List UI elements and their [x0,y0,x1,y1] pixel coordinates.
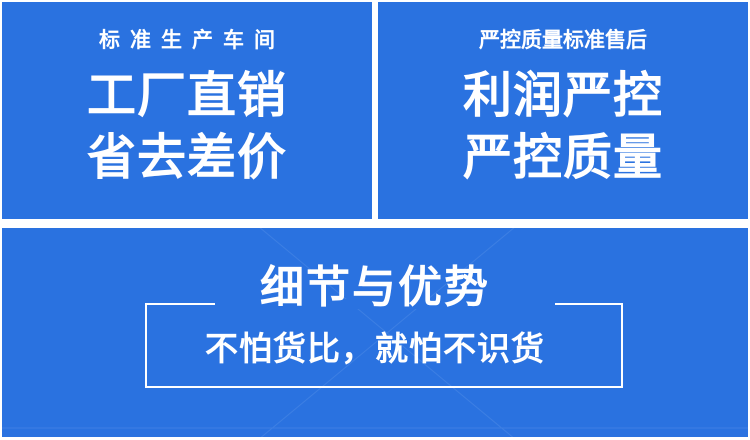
panel-factory-direct-headline-line1: 工厂直销 [87,67,287,127]
panel-factory-direct-headline-line2: 省去差价 [87,129,287,189]
panel-quality-control: 严控质量标准售后 利润严控 严控质量 [378,2,748,219]
panel-factory-direct-eyebrow: 标准生产车间 [89,30,285,51]
panel-quality-control-eyebrow: 严控质量标准售后 [479,30,647,51]
panel-details-advantages: 细节与优势 不怕货比，就怕不识货 [2,228,748,437]
panel-quality-control-headline-line1: 利润严控 [463,67,663,127]
panel-quality-control-headline-line2: 严控质量 [463,129,663,189]
top-panel-row: 标准生产车间 工厂直销 省去差价 严控质量标准售后 利润严控 严控质量 [0,2,750,219]
promo-banner: 标准生产车间 工厂直销 省去差价 严控质量标准售后 利润严控 严控质量 细节与优… [0,0,750,440]
panel-factory-direct: 标准生产车间 工厂直销 省去差价 [2,2,372,219]
details-advantages-subtitle: 不怕货比，就怕不识货 [2,332,748,365]
details-advantages-title: 细节与优势 [2,266,748,310]
